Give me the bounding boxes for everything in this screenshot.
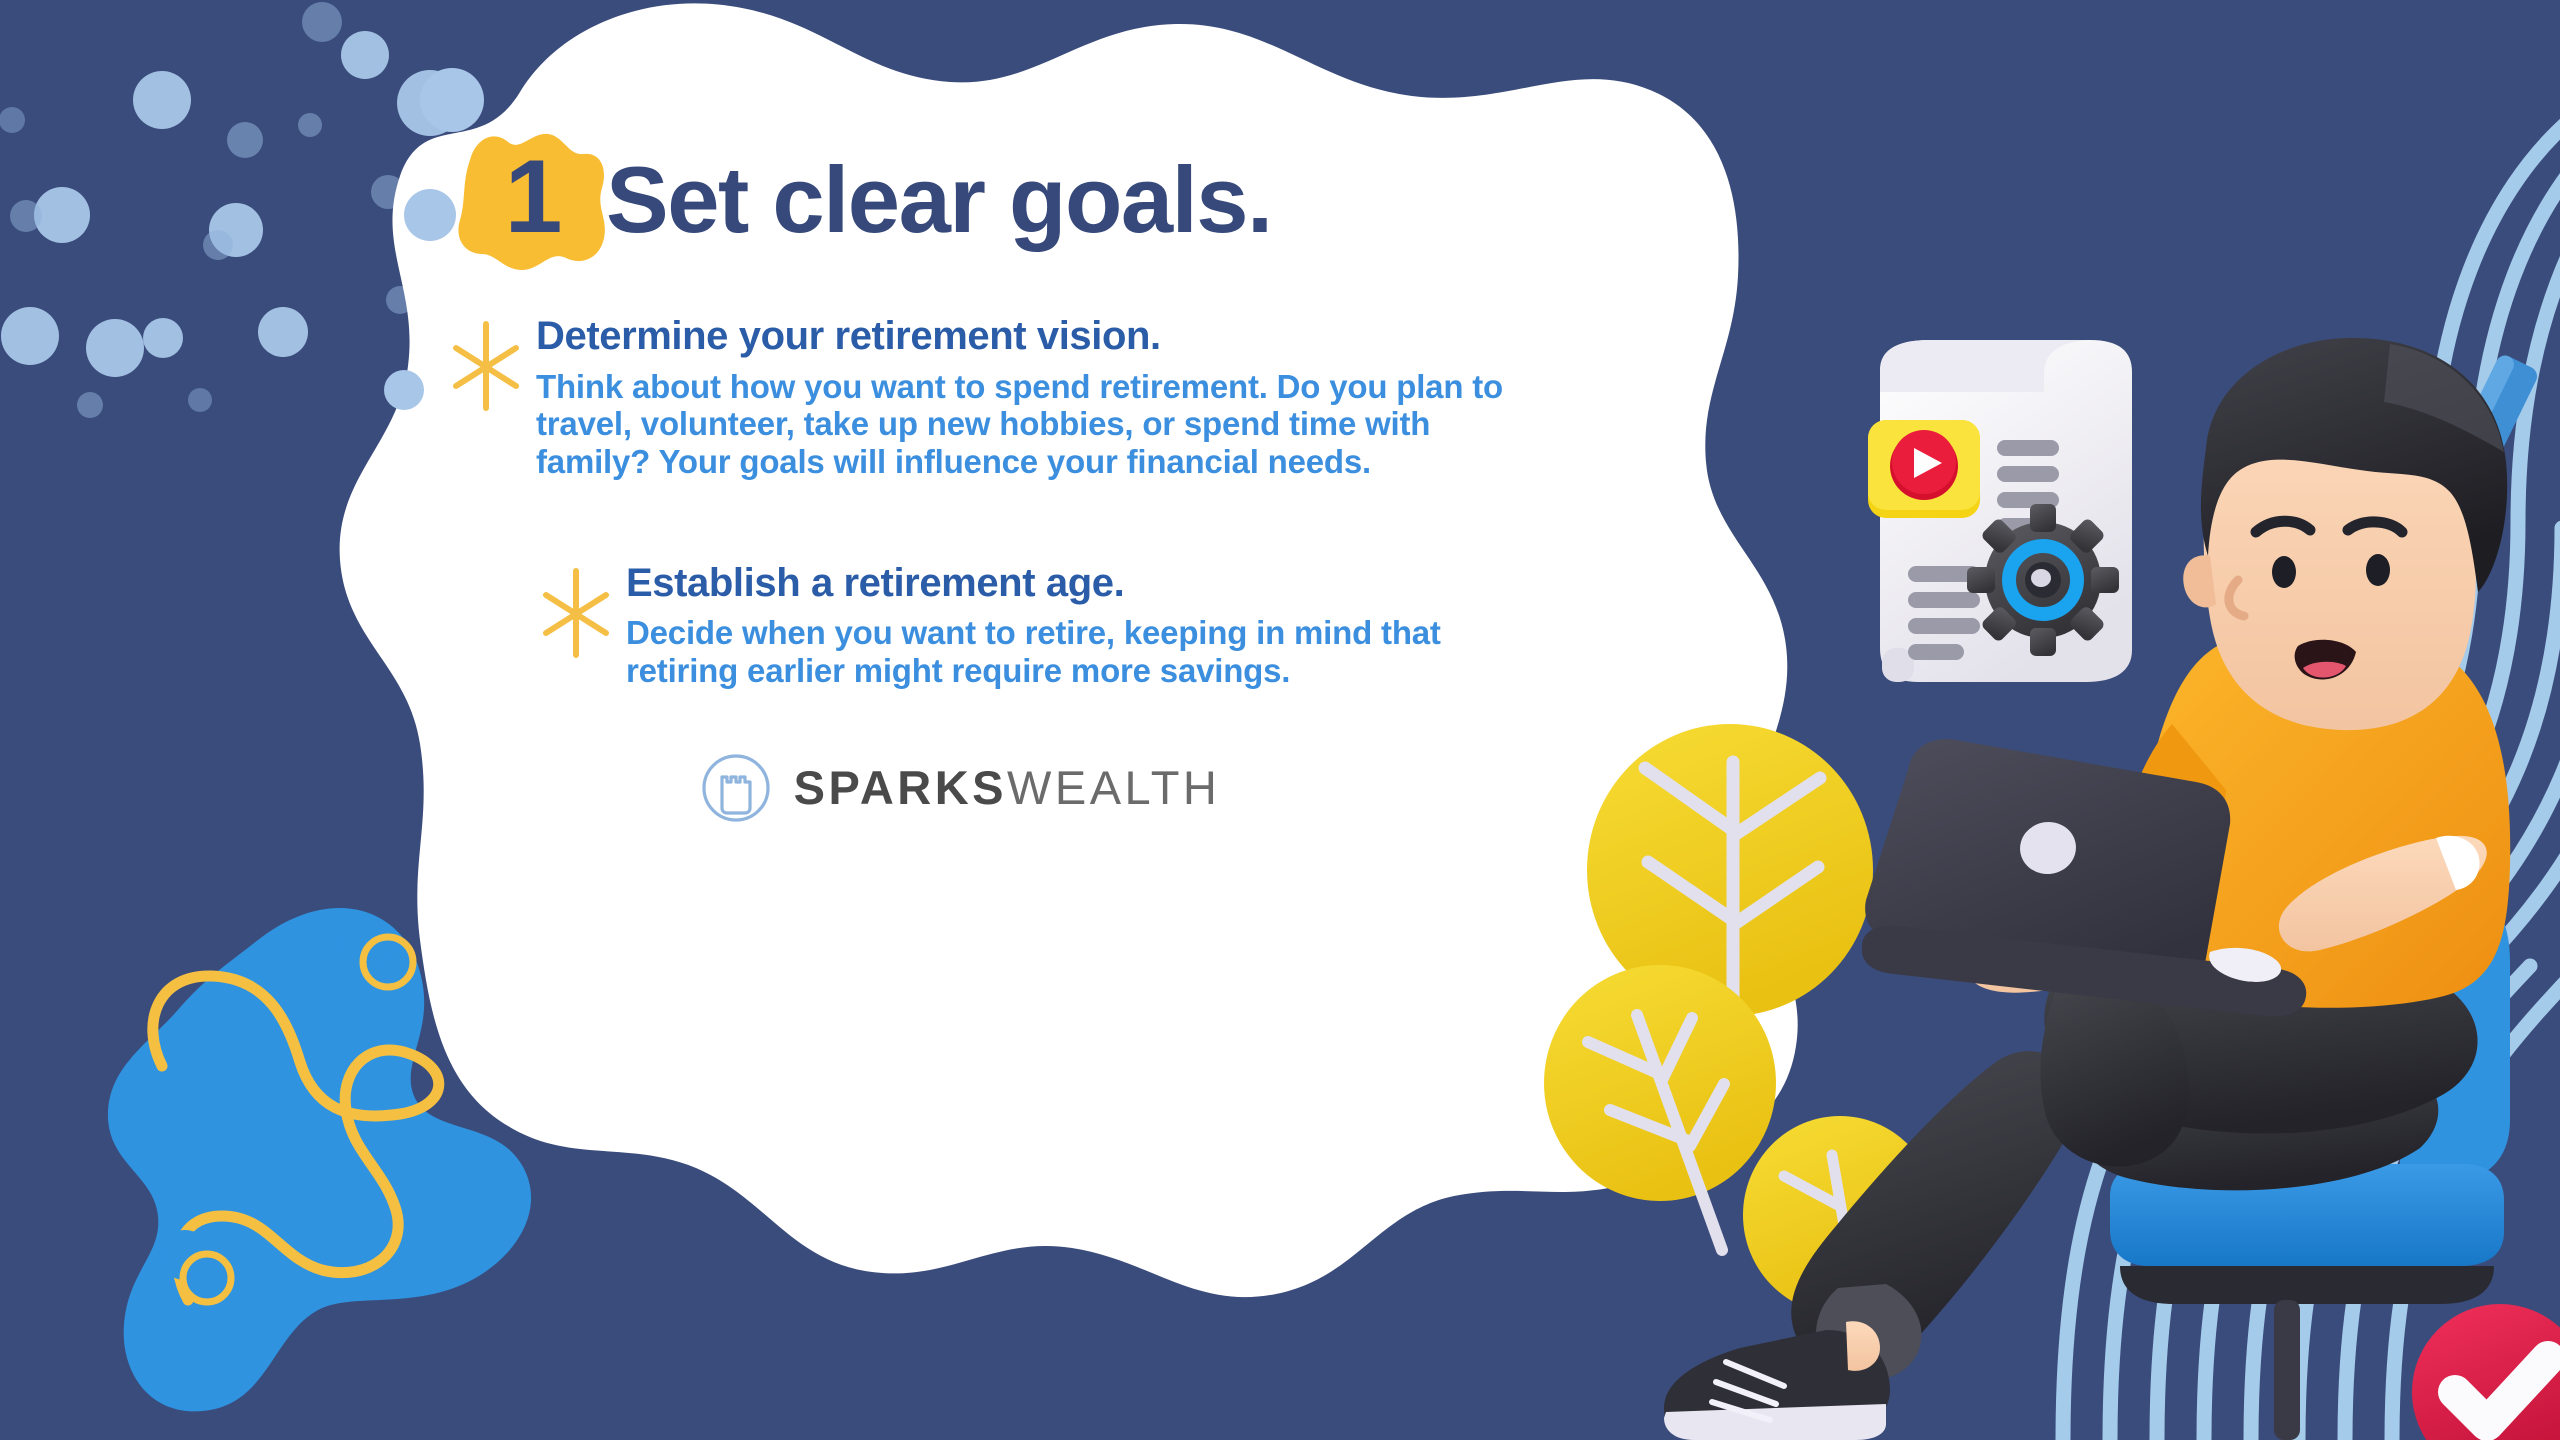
- bullet-heading: Determine your retirement vision.: [536, 314, 1610, 359]
- bullet-item: Determine your retirement vision. Think …: [450, 314, 1610, 481]
- brand-name-secondary: WEALTH: [1007, 761, 1220, 814]
- bullet-description: Think about how you want to spend retire…: [536, 368, 1546, 481]
- bullet-heading: Establish a retirement age.: [626, 561, 1610, 606]
- sparkle-icon: [450, 318, 522, 414]
- document-scroll: [1868, 340, 2132, 682]
- brand-name-primary: SPARKS: [794, 761, 1007, 814]
- sparkle-icon: [540, 565, 612, 661]
- step-badge: 1: [448, 120, 618, 280]
- gear-icon: [1967, 504, 2119, 656]
- bullet-description: Decide when you want to retire, keeping …: [626, 614, 1456, 689]
- castle-tower-icon: [700, 752, 772, 824]
- bullet-body: Determine your retirement vision. Think …: [536, 314, 1610, 481]
- step-number: 1: [448, 120, 618, 280]
- infographic-slide: 1 Set clear goals. Determine your retire…: [0, 0, 2560, 1440]
- page-title: Set clear goals.: [606, 153, 1272, 247]
- play-button-icon: [1868, 420, 1980, 518]
- brand-name: SPARKSWEALTH: [794, 764, 1221, 811]
- brand-logo: SPARKSWEALTH: [310, 752, 1610, 824]
- bullet-item: Establish a retirement age. Decide when …: [540, 561, 1610, 690]
- bullet-body: Establish a retirement age. Decide when …: [626, 561, 1610, 690]
- title-row: 1 Set clear goals.: [448, 120, 1610, 280]
- card-content: 1 Set clear goals. Determine your retire…: [430, 120, 1610, 824]
